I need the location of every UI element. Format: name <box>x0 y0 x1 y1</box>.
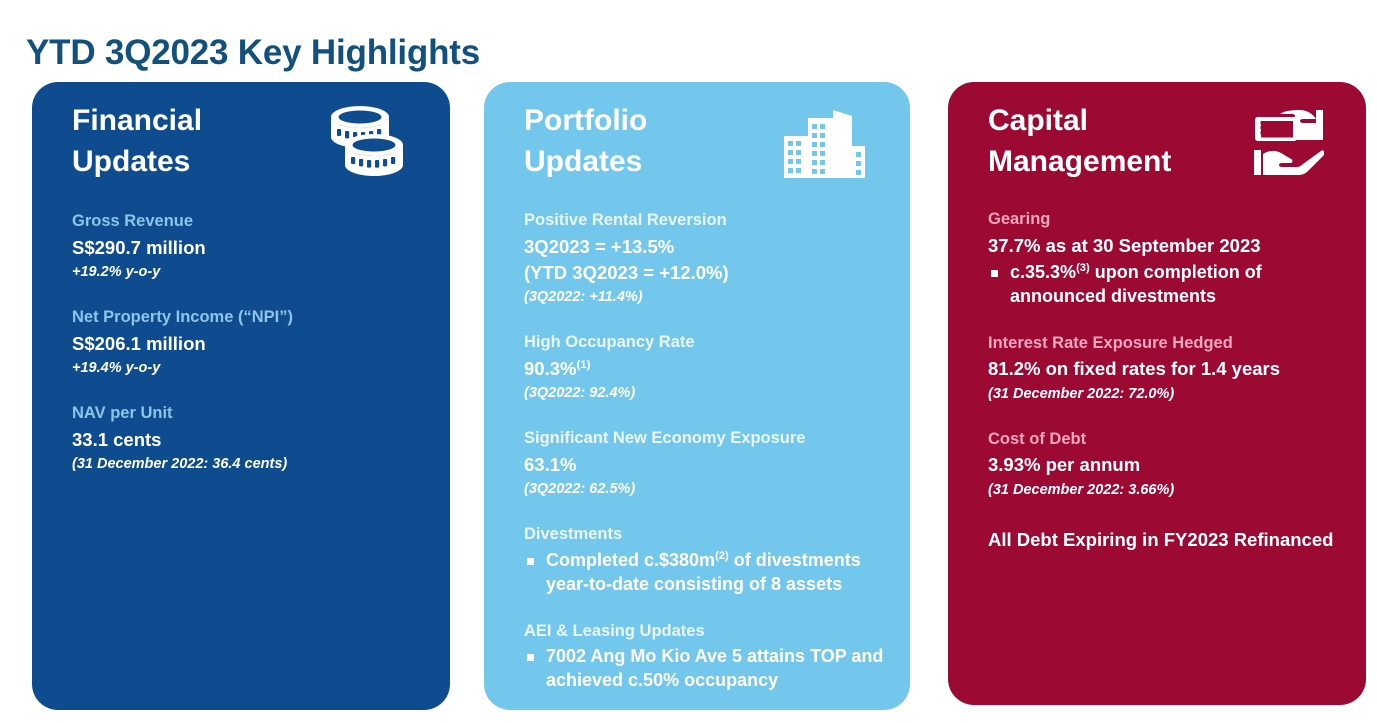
card-financial-updates: Financial Updates <box>32 82 450 710</box>
bullet-square-icon <box>527 654 534 661</box>
metric-value: 3.93% per annum <box>988 452 1348 478</box>
metric-group: NAV per Unit 33.1 cents (31 December 202… <box>72 401 432 475</box>
card-portfolio-updates: Portfolio Updates <box>484 82 910 710</box>
metric-note: (31 December 2022: 36.4 cents) <box>72 454 432 475</box>
metric-group: Divestments Completed c.$380m(2) of dive… <box>524 522 892 596</box>
metric-group: Interest Rate Exposure Hedged 81.2% on f… <box>988 331 1348 405</box>
bullet-text-pre: Completed c.$380m <box>546 550 715 570</box>
cash-in-hand-icon <box>1254 110 1324 181</box>
metric-value-text: 90.3% <box>524 358 576 379</box>
metric-statement: All Debt Expiring in FY2023 Refinanced <box>988 527 1348 553</box>
stacked-coins-icon <box>324 104 406 183</box>
metric-value-secondary: (YTD 3Q2023 = +12.0%) <box>524 260 892 286</box>
list-item: Completed c.$380m(2) of divestments year… <box>524 549 892 597</box>
metric-group: Cost of Debt 3.93% per annum (31 Decembe… <box>988 427 1348 501</box>
metric-note: (3Q2022: 92.4%) <box>524 383 892 404</box>
metric-label: Gearing <box>988 207 1348 232</box>
card-body: Positive Rental Reversion 3Q2023 = +13.5… <box>524 208 892 693</box>
metric-label: Positive Rental Reversion <box>524 208 892 233</box>
card-title: Financial Updates <box>72 100 202 182</box>
metric-label: Net Property Income (“NPI”) <box>72 305 432 330</box>
card-header: Financial Updates <box>72 100 432 183</box>
page-title: YTD 3Q2023 Key Highlights <box>26 33 480 73</box>
bullet-square-icon <box>527 558 534 565</box>
bullet-text-pre: c.35.3% <box>1010 262 1076 282</box>
card-capital-management: Capital Management <box>948 82 1366 705</box>
card-header: Capital Management <box>988 100 1348 182</box>
metric-label: NAV per Unit <box>72 401 432 426</box>
highlight-cards-container: Financial Updates <box>0 82 1377 712</box>
metric-value: 3Q2023 = +13.5% <box>524 234 892 260</box>
bullet-list: 7002 Ang Mo Kio Ave 5 attains TOP and ac… <box>524 645 892 693</box>
office-buildings-icon <box>782 106 866 183</box>
list-item: c.35.3%(3) upon completion of announced … <box>988 261 1348 309</box>
card-title: Capital Management <box>988 100 1171 182</box>
bullet-list: c.35.3%(3) upon completion of announced … <box>988 261 1348 309</box>
card-body: Gross Revenue S$290.7 million +19.2% y-o… <box>72 209 432 475</box>
metric-label: Interest Rate Exposure Hedged <box>988 331 1348 356</box>
card-title: Portfolio Updates <box>524 100 647 182</box>
metric-value: S$206.1 million <box>72 331 432 357</box>
metric-group: Net Property Income (“NPI”) S$206.1 mill… <box>72 305 432 379</box>
metric-label: AEI & Leasing Updates <box>524 619 892 644</box>
metric-group: Positive Rental Reversion 3Q2023 = +13.5… <box>524 208 892 308</box>
metric-label: Divestments <box>524 522 892 547</box>
metric-group: Gross Revenue S$290.7 million +19.2% y-o… <box>72 209 432 283</box>
footnote-marker: (3) <box>1076 262 1090 274</box>
metric-note: +19.2% y-o-y <box>72 262 432 283</box>
metric-value: 33.1 cents <box>72 427 432 453</box>
metric-group: All Debt Expiring in FY2023 Refinanced <box>988 527 1348 553</box>
metric-note: +19.4% y-o-y <box>72 358 432 379</box>
metric-label: Cost of Debt <box>988 427 1348 452</box>
bullet-square-icon <box>991 270 998 277</box>
metric-value: 90.3%(1) <box>524 356 892 382</box>
bullet-list: Completed c.$380m(2) of divestments year… <box>524 549 892 597</box>
metric-value: 81.2% on fixed rates for 1.4 years <box>988 356 1348 382</box>
metric-label: Gross Revenue <box>72 209 432 234</box>
metric-group: Gearing 37.7% as at 30 September 2023 c.… <box>988 207 1348 309</box>
metric-note: (31 December 2022: 72.0%) <box>988 384 1348 405</box>
bullet-text-pre: 7002 Ang Mo Kio Ave 5 attains TOP and ac… <box>546 646 883 690</box>
metric-group: AEI & Leasing Updates 7002 Ang Mo Kio Av… <box>524 619 892 693</box>
footnote-marker: (2) <box>715 550 729 562</box>
metric-group: Significant New Economy Exposure 63.1% (… <box>524 426 892 500</box>
card-header: Portfolio Updates <box>524 100 892 183</box>
metric-label: High Occupancy Rate <box>524 330 892 355</box>
metric-value: 37.7% as at 30 September 2023 <box>988 233 1348 259</box>
metric-value: S$290.7 million <box>72 235 432 261</box>
footnote-marker: (1) <box>576 359 590 371</box>
metric-group: High Occupancy Rate 90.3%(1) (3Q2022: 92… <box>524 330 892 404</box>
list-item: 7002 Ang Mo Kio Ave 5 attains TOP and ac… <box>524 645 892 693</box>
metric-note: (3Q2022: 62.5%) <box>524 479 892 500</box>
metric-note: (31 December 2022: 3.66%) <box>988 480 1348 501</box>
metric-note: (3Q2022: +11.4%) <box>524 287 892 308</box>
metric-value: 63.1% <box>524 452 892 478</box>
metric-label: Significant New Economy Exposure <box>524 426 892 451</box>
card-body: Gearing 37.7% as at 30 September 2023 c.… <box>988 207 1348 552</box>
